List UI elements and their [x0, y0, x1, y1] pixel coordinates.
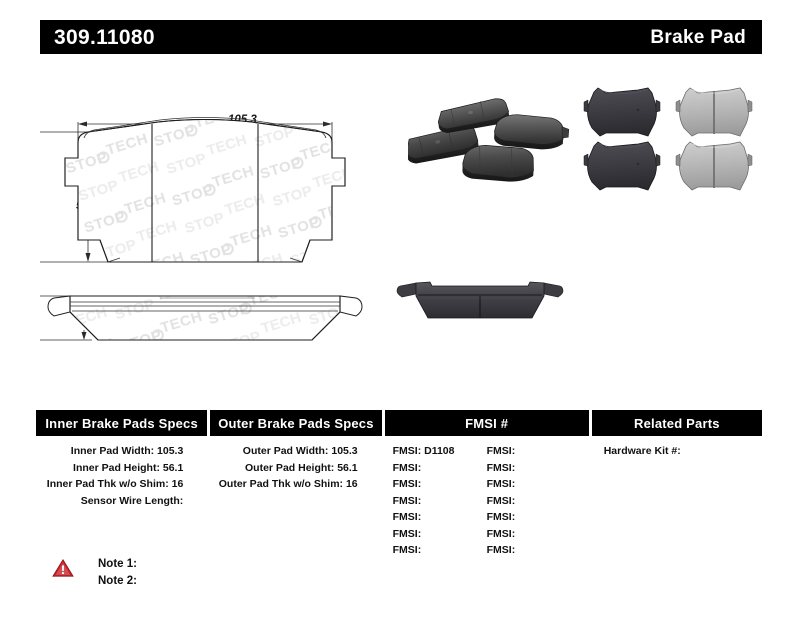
- pad-friction-view-top-right: [676, 88, 752, 136]
- pad-friction-view-bottom-right: [676, 142, 752, 190]
- fmsi-row: FMSI:: [393, 509, 487, 526]
- brake-pad-photo-perspective-group: [408, 88, 573, 188]
- fmsi-right-column: FMSI: FMSI: FMSI: FMSI: FMSI: FMSI: FMSI…: [487, 443, 581, 559]
- fmsi-row: FMSI:: [393, 542, 487, 559]
- fmsi-row: FMSI:: [487, 460, 581, 477]
- outer-specs-cell: Outer Pad Width: 105.3 Outer Pad Height:…: [210, 443, 381, 559]
- inner-specs-cell: Inner Pad Width: 105.3 Inner Pad Height:…: [36, 443, 207, 559]
- spec-table-body: Inner Pad Width: 105.3 Inner Pad Height:…: [36, 436, 762, 559]
- header-banner: 309.11080 Brake Pad: [40, 20, 762, 54]
- related-parts-row: Hardware Kit #:: [604, 443, 762, 460]
- column-header-inner-specs: Inner Brake Pads Specs: [36, 410, 207, 436]
- fmsi-row: FMSI: D1108: [393, 443, 487, 460]
- pad-backing-view-top-left: [584, 88, 660, 136]
- inner-spec-row: Inner Pad Height: 56.1: [36, 460, 183, 477]
- fmsi-row: FMSI:: [393, 526, 487, 543]
- fmsi-row: FMSI:: [393, 476, 487, 493]
- spec-sheet-page: 309.11080 Brake Pad 105.3 56.1 16.0 STOP…: [0, 0, 800, 619]
- drawing-area: 105.3 56.1 16.0 STOP TECH STOP TECH: [0, 70, 800, 390]
- notes-text-block: Note 1: Note 2:: [98, 556, 137, 590]
- warning-triangle-icon: [52, 558, 74, 578]
- product-type-title: Brake Pad: [650, 28, 746, 47]
- pad-side-view-outline: [48, 290, 362, 348]
- outer-spec-row: Outer Pad Height: 56.1: [210, 460, 357, 477]
- fmsi-row: FMSI:: [487, 542, 581, 559]
- fmsi-row: FMSI:: [393, 493, 487, 510]
- note-line-2: Note 2:: [98, 573, 137, 590]
- note-line-1: Note 1:: [98, 556, 137, 573]
- column-header-outer-specs: Outer Brake Pads Specs: [210, 410, 381, 436]
- fmsi-cell: FMSI: D1108 FMSI: FMSI: FMSI: FMSI: FMSI…: [385, 443, 589, 559]
- fmsi-row: FMSI:: [487, 476, 581, 493]
- spec-table-header-row: Inner Brake Pads Specs Outer Brake Pads …: [36, 410, 762, 436]
- outer-spec-row: Outer Pad Width: 105.3: [210, 443, 357, 460]
- inner-spec-row: Inner Pad Width: 105.3: [36, 443, 183, 460]
- column-header-fmsi: FMSI #: [385, 410, 589, 436]
- fmsi-row: FMSI:: [487, 493, 581, 510]
- column-header-related-parts: Related Parts: [592, 410, 762, 436]
- inner-spec-row: Inner Pad Thk w/o Shim: 16: [36, 476, 183, 493]
- outer-spec-row: Outer Pad Thk w/o Shim: 16: [210, 476, 357, 493]
- inner-spec-row: Sensor Wire Length:: [36, 493, 183, 510]
- fmsi-row: FMSI:: [487, 509, 581, 526]
- fmsi-left-column: FMSI: D1108 FMSI: FMSI: FMSI: FMSI: FMSI…: [393, 443, 487, 559]
- brake-pad-photo-flat-group: [578, 84, 758, 196]
- related-parts-cell: Hardware Kit #:: [592, 443, 762, 559]
- brake-pad-line-drawing: STOP TECH STOP TECH: [40, 90, 370, 370]
- pad-front-view-outline: [60, 115, 355, 270]
- fmsi-row: FMSI:: [487, 526, 581, 543]
- fmsi-row: FMSI:: [393, 460, 487, 477]
- fmsi-row: FMSI:: [487, 443, 581, 460]
- part-number: 309.11080: [54, 27, 155, 48]
- notes-section: Note 1: Note 2:: [52, 556, 137, 590]
- brake-pad-photo-edge-view: [396, 270, 564, 332]
- pad-backing-view-bottom-left: [584, 142, 660, 190]
- spec-table: Inner Brake Pads Specs Outer Brake Pads …: [36, 410, 762, 559]
